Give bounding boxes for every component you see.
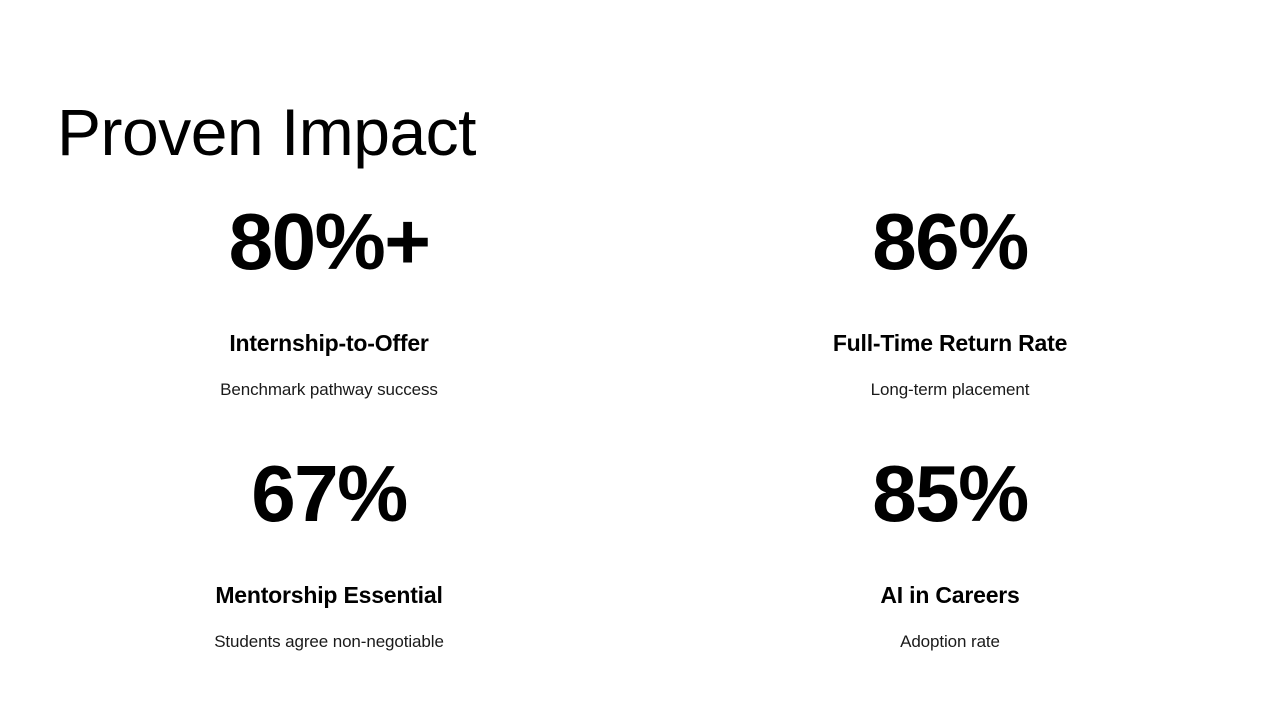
slide-root: Proven Impact 80%+ Internship-to-Offer B… xyxy=(0,0,1280,720)
stat-label: Full-Time Return Rate xyxy=(833,282,1067,358)
stat-block: 80%+ Internship-to-Offer Benchmark pathw… xyxy=(109,180,549,401)
stat-caption: Long-term placement xyxy=(871,358,1030,401)
stat-value: 85% xyxy=(872,432,1028,534)
page-title: Proven Impact xyxy=(57,96,476,170)
stat-value: 86% xyxy=(872,180,1028,282)
stat-label: Mentorship Essential xyxy=(215,534,442,610)
stat-label: AI in Careers xyxy=(880,534,1019,610)
stats-grid: 80%+ Internship-to-Offer Benchmark pathw… xyxy=(0,180,1280,684)
stat-block: 85% AI in Careers Adoption rate xyxy=(730,432,1170,653)
stat-block: 67% Mentorship Essential Students agree … xyxy=(109,432,549,653)
stat-caption: Students agree non-negotiable xyxy=(214,610,444,653)
stat-label: Internship-to-Offer xyxy=(229,282,428,358)
stat-value: 67% xyxy=(251,432,407,534)
stat-block: 86% Full-Time Return Rate Long-term plac… xyxy=(730,180,1170,401)
stat-caption: Adoption rate xyxy=(900,610,1000,653)
stat-caption: Benchmark pathway success xyxy=(220,358,438,401)
stat-value: 80%+ xyxy=(229,180,430,282)
